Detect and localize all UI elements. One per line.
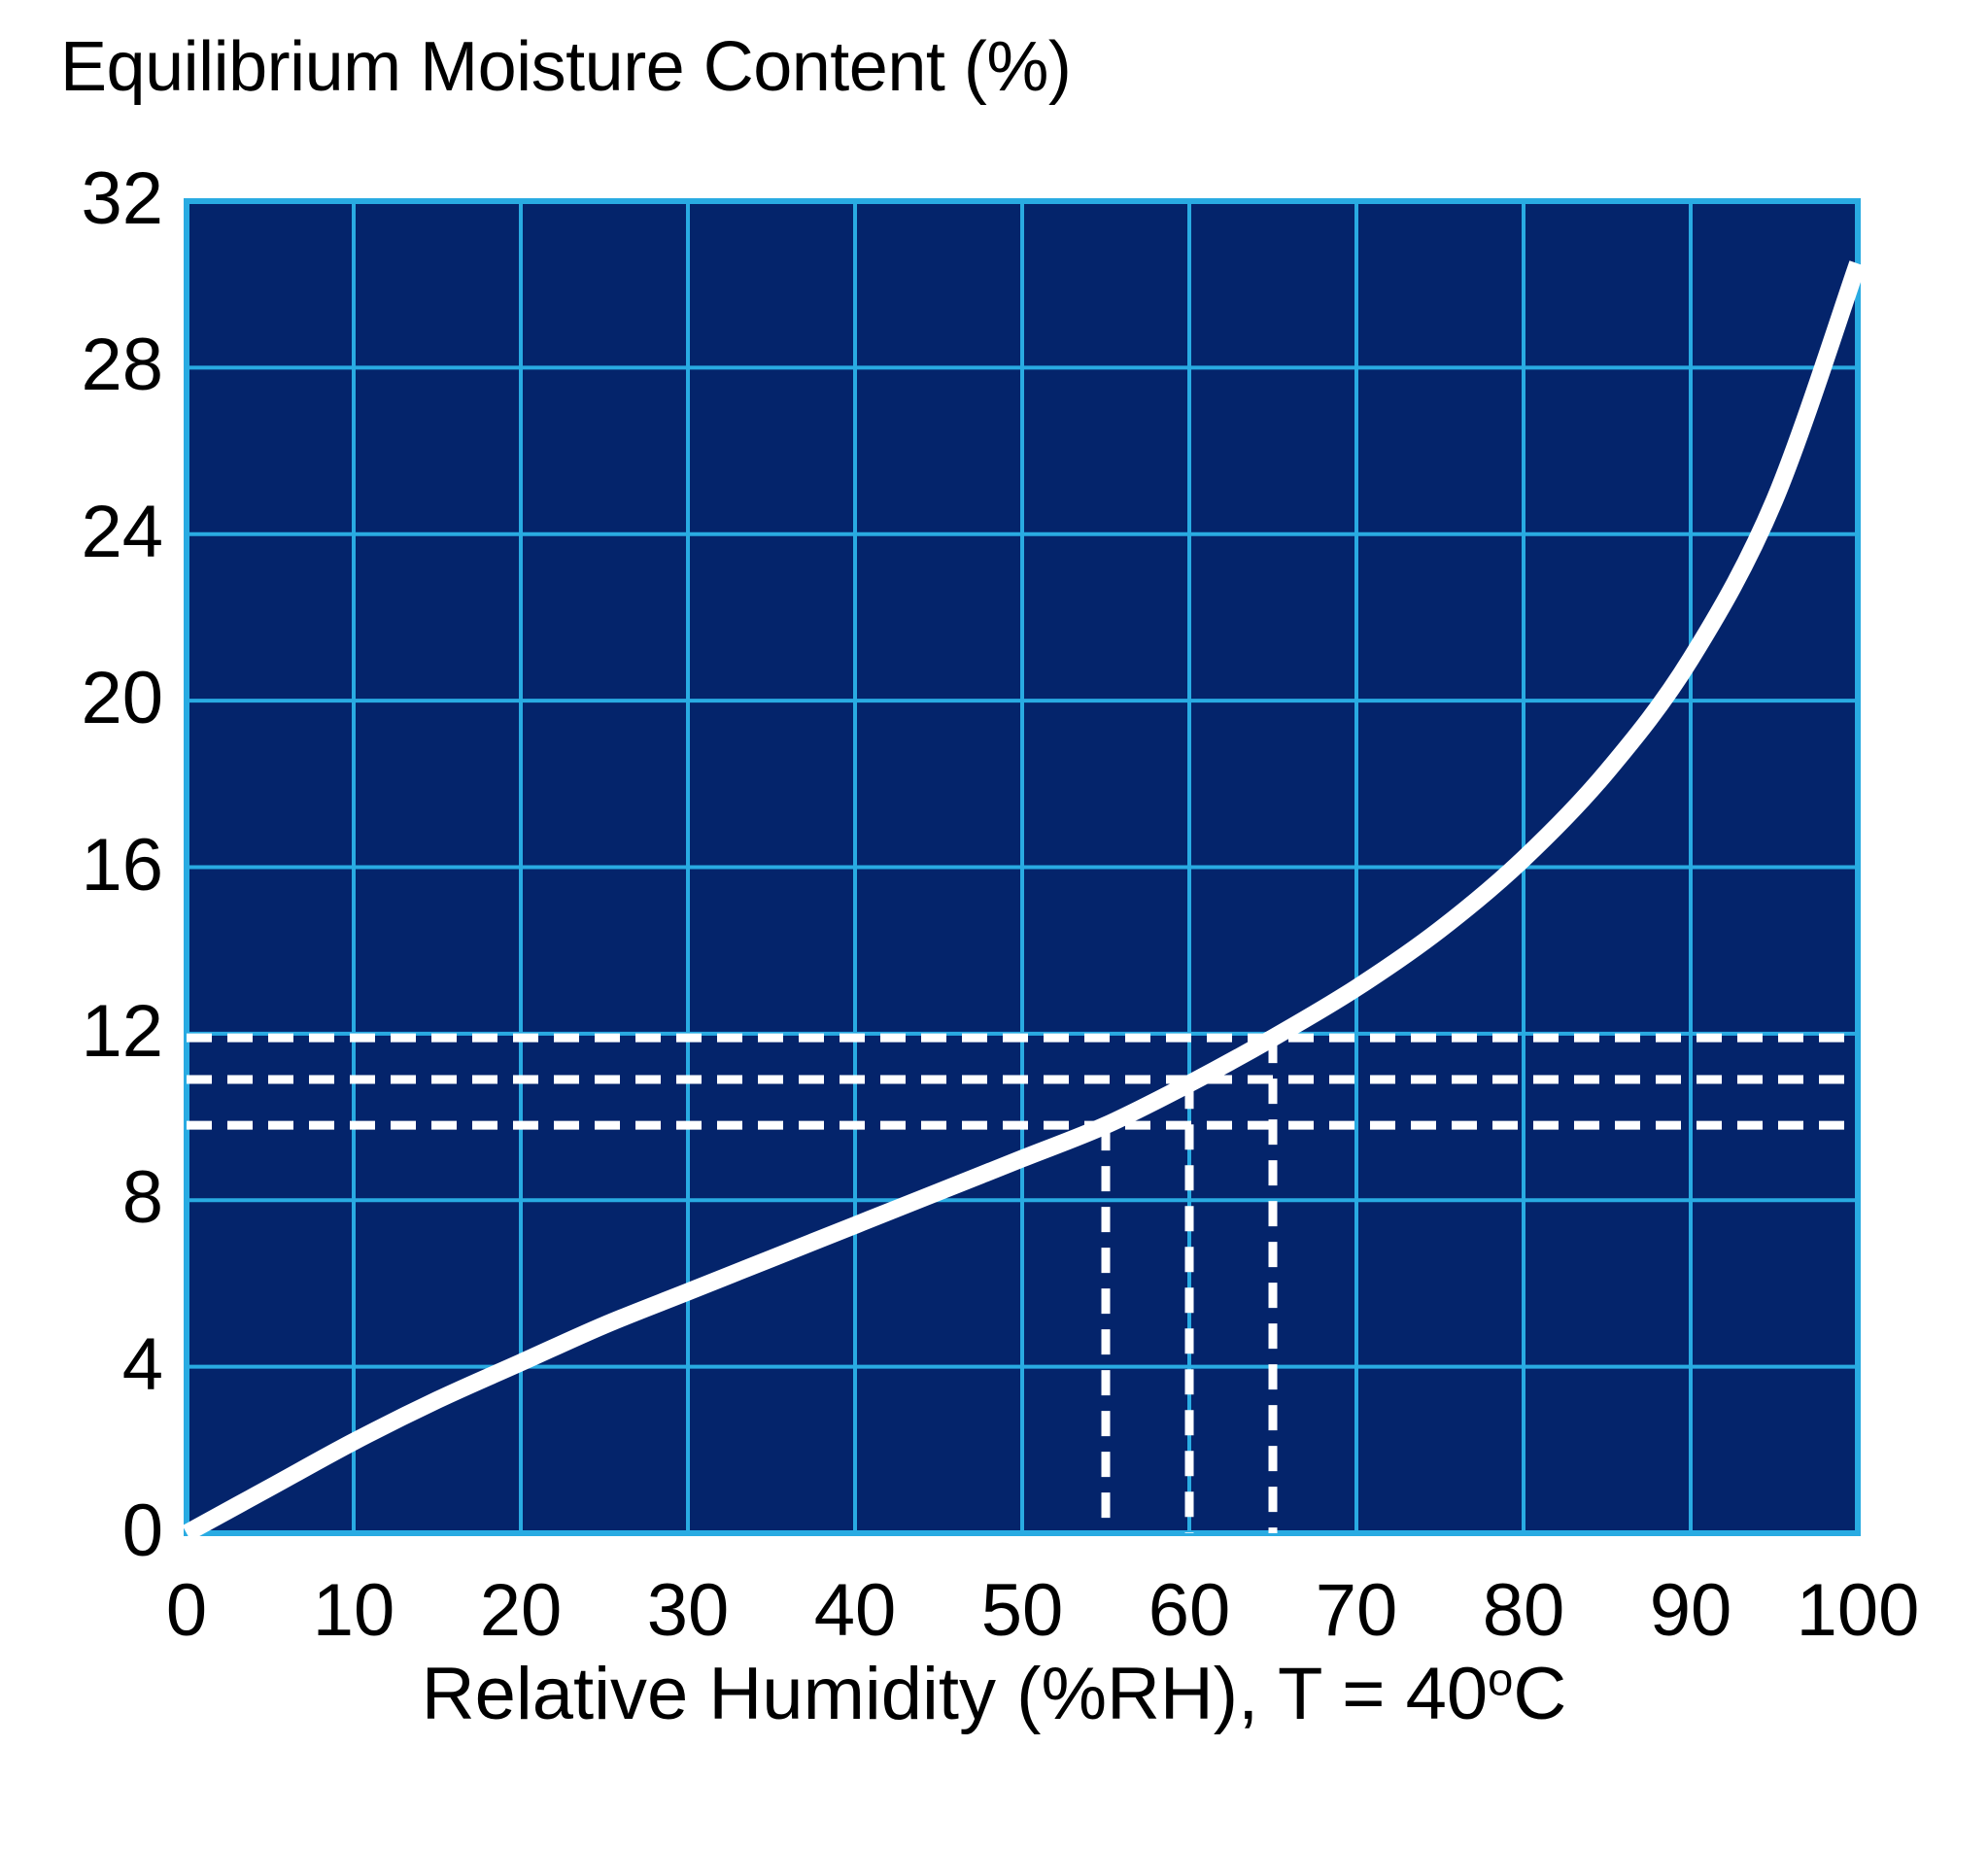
x-tick-label: 100 (1761, 1574, 1955, 1648)
y-tick-label: 24 (17, 496, 163, 569)
x-axis-title-main: Relative Humidity (%RH), T = 40 (422, 1653, 1488, 1735)
y-tick-label: 20 (17, 662, 163, 736)
x-tick-label: 0 (89, 1574, 284, 1648)
chart-figure: Equilibrium Moisture Content (%) 0481216… (0, 0, 1988, 1849)
x-tick-label: 60 (1092, 1574, 1286, 1648)
y-tick-label: 16 (17, 829, 163, 903)
x-tick-label: 80 (1426, 1574, 1621, 1648)
x-tick-label: 10 (257, 1574, 451, 1648)
degree-symbol-icon: o (1488, 1654, 1513, 1705)
x-tick-label: 70 (1259, 1574, 1454, 1648)
x-tick-label: 30 (591, 1574, 785, 1648)
y-tick-label: 4 (17, 1328, 163, 1402)
y-tick-label: 12 (17, 995, 163, 1069)
x-tick-label: 50 (925, 1574, 1119, 1648)
x-axis-title: Relative Humidity (%RH), T = 40oC (0, 1652, 1988, 1736)
y-tick-label: 32 (17, 162, 163, 236)
x-tick-label: 90 (1594, 1574, 1788, 1648)
y-tick-label: 8 (17, 1161, 163, 1235)
y-tick-label: 0 (17, 1494, 163, 1568)
x-axis-title-unit: C (1513, 1653, 1566, 1735)
y-tick-label: 28 (17, 328, 163, 402)
x-tick-label: 40 (758, 1574, 952, 1648)
x-tick-label: 20 (424, 1574, 618, 1648)
